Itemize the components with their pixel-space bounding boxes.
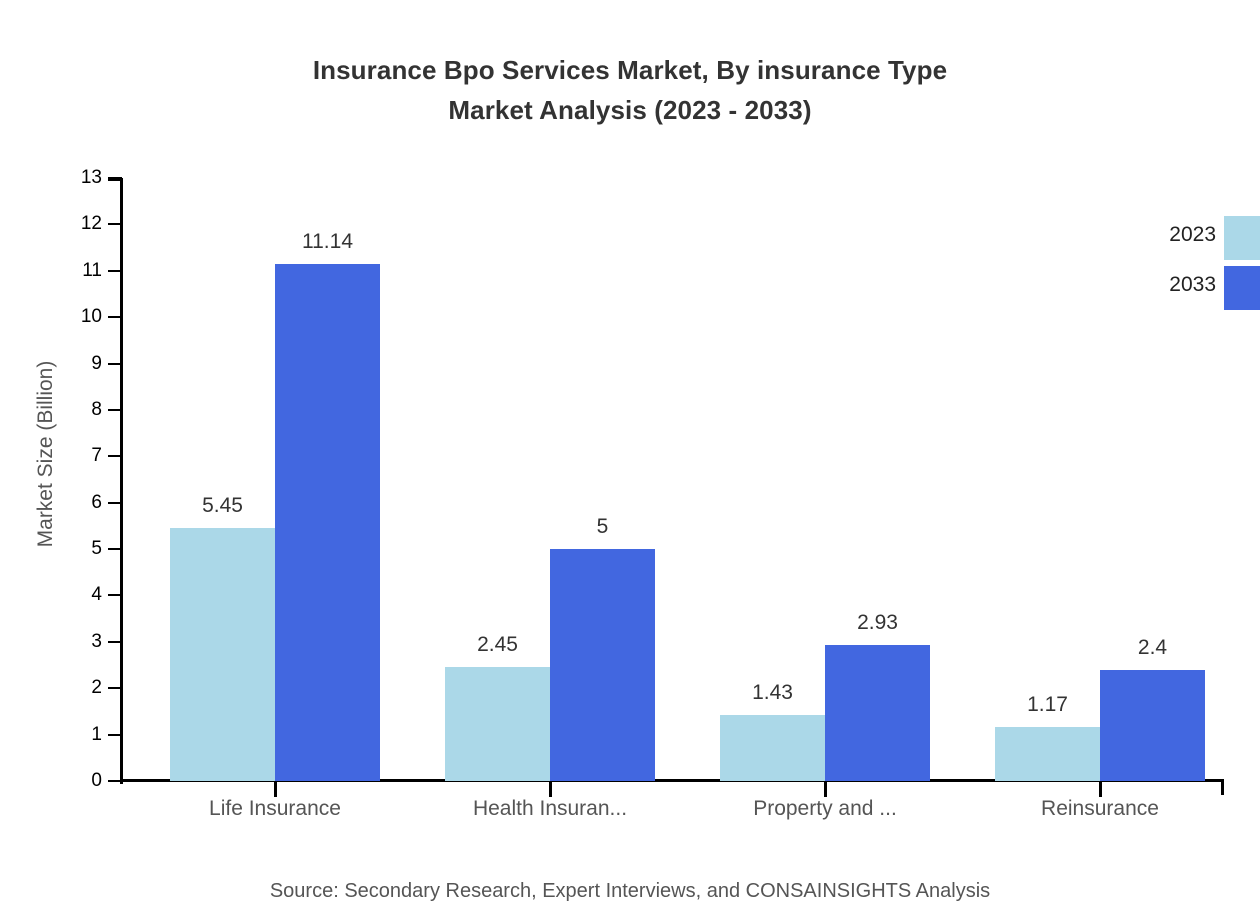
bar-value-label: 2.4 [1083, 637, 1223, 658]
y-axis-tick [108, 548, 122, 550]
bar[interactable] [1100, 670, 1205, 781]
y-axis-tick-label: 9 [42, 354, 102, 373]
y-axis-tick [108, 363, 122, 365]
bar-value-label: 1.43 [703, 682, 843, 703]
y-axis-tick-label: 11 [42, 261, 102, 280]
y-axis-tick-label: 13 [42, 168, 102, 187]
y-axis-tick [108, 316, 122, 318]
bar[interactable] [170, 528, 275, 781]
bar[interactable] [275, 264, 380, 781]
y-axis-tick [108, 734, 122, 736]
y-axis-tick [108, 409, 122, 411]
y-axis-tick [108, 502, 122, 504]
legend-item[interactable]: 2033 [1100, 262, 1260, 312]
y-axis-tick-label: 12 [42, 214, 102, 233]
legend-item[interactable]: 2023 [1100, 212, 1260, 262]
y-axis-tick-label: 10 [42, 307, 102, 326]
plot-area [122, 178, 1222, 781]
y-axis-tick [108, 687, 122, 689]
x-axis-category-label: Reinsurance [970, 795, 1230, 823]
page-title: Insurance Bpo Services Market, By insura… [0, 50, 1260, 130]
y-axis-tick-label: 6 [42, 493, 102, 512]
y-axis-tick-label: 5 [42, 539, 102, 558]
y-axis-tick-label: 4 [42, 585, 102, 604]
chart-title-line-1: Insurance Bpo Services Market, By insura… [0, 50, 1260, 90]
y-axis-tick [108, 455, 122, 457]
bar-value-label: 5.45 [153, 495, 293, 516]
y-axis-tick-label: 3 [42, 632, 102, 651]
bar-value-label: 5 [533, 516, 673, 537]
y-axis-tick-label: 7 [42, 446, 102, 465]
y-axis-tick-label: 0 [42, 771, 102, 790]
y-axis-tick [108, 780, 122, 782]
bar[interactable] [995, 727, 1100, 781]
y-axis-tick [108, 641, 122, 643]
y-axis-tick [108, 177, 122, 179]
x-axis-category-label: Health Insuran... [420, 795, 680, 823]
y-axis-tick [108, 223, 122, 225]
legend-color-swatch [1224, 216, 1260, 260]
y-axis-tick-label: 8 [42, 400, 102, 419]
bar[interactable] [445, 667, 550, 781]
legend-color-swatch [1224, 266, 1260, 310]
y-axis-tick [108, 270, 122, 272]
bar-value-label: 1.17 [978, 694, 1118, 715]
legend: 20232033 [1100, 212, 1260, 312]
y-axis-tick-label: 2 [42, 678, 102, 697]
bar-value-label: 11.14 [258, 231, 398, 252]
x-axis-category-label: Life Insurance [145, 795, 405, 823]
bar-value-label: 2.93 [808, 612, 948, 633]
x-axis-end-cap [1221, 779, 1224, 795]
bar[interactable] [720, 715, 825, 781]
bar-value-label: 2.45 [428, 634, 568, 655]
bar[interactable] [550, 549, 655, 781]
x-axis-category-label: Property and ... [695, 795, 955, 823]
source-note: Source: Secondary Research, Expert Inter… [0, 878, 1260, 904]
y-axis-tick [108, 594, 122, 596]
legend-label: 2033 [1169, 274, 1216, 296]
legend-label: 2023 [1169, 224, 1216, 246]
y-axis-tick-label: 1 [42, 725, 102, 744]
bar[interactable] [825, 645, 930, 781]
chart-title-line-2: Market Analysis (2023 - 2033) [0, 90, 1260, 130]
